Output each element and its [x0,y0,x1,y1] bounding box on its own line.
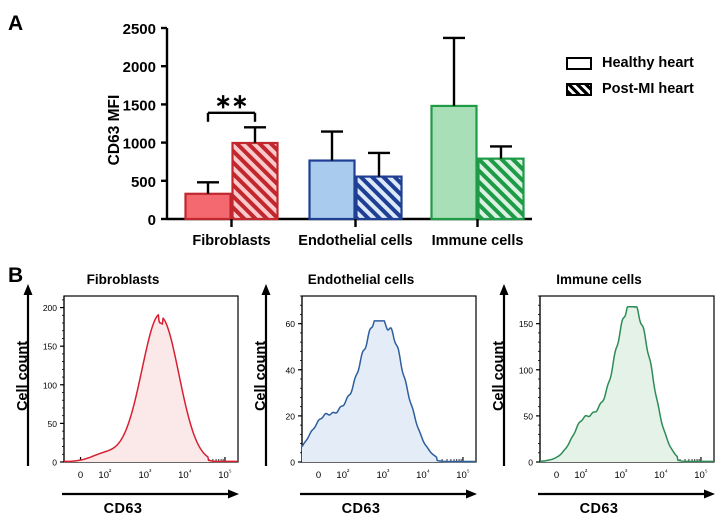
legend-label-healthy: Healthy heart [602,55,694,71]
histogram-endothelial: Endothelial cells Cell count 0204060010²… [240,258,482,528]
bar-chart: 05001000150020002500CD63 MFIFibroblastsE… [0,0,570,255]
svg-text:1500: 1500 [123,97,156,114]
svg-text:10⁵: 10⁵ [456,469,470,481]
open-rect-swatch-icon [566,57,592,70]
svg-text:10⁴: 10⁴ [416,469,430,481]
svg-text:Fibroblasts: Fibroblasts [192,233,270,249]
svg-text:0: 0 [52,458,57,468]
svg-text:1000: 1000 [123,136,156,153]
svg-text:20: 20 [286,411,296,421]
svg-text:10⁵: 10⁵ [694,469,708,481]
svg-text:0: 0 [528,458,533,468]
svg-text:Immune cells: Immune cells [432,233,524,249]
chart-legend: Healthy heart Post-MI heart [566,50,721,102]
svg-text:60: 60 [286,319,296,329]
histogram-plot-immune: 050100150010²10³10⁴10⁵ [478,284,720,499]
hatched-rect-swatch-icon [566,83,592,96]
svg-text:150: 150 [43,342,57,352]
svg-text:2500: 2500 [123,21,156,38]
histogram-xlabel-endothelial: CD63 [240,501,482,517]
svg-text:10³: 10³ [614,469,628,481]
histogram-immune: Immune cells Cell count 050100150010²10³… [478,258,720,528]
svg-text:10⁵: 10⁵ [218,469,232,481]
histogram-plot-endothelial: 0204060010²10³10⁴10⁵ [240,284,482,499]
svg-text:2000: 2000 [123,59,156,76]
histogram-fibroblasts: Fibroblasts Cell count 050100150200010²1… [2,258,244,528]
svg-text:10³: 10³ [376,469,390,481]
svg-text:CD63 MFI: CD63 MFI [106,95,123,166]
svg-text:Endothelial cells: Endothelial cells [298,233,412,249]
svg-text:∗∗: ∗∗ [215,91,249,113]
svg-text:0: 0 [554,470,559,481]
panel-a: A 05001000150020002500CD63 MFIFibroblast… [0,0,725,255]
legend-item-healthy: Healthy heart [566,50,721,76]
svg-text:0: 0 [316,470,321,481]
svg-text:50: 50 [48,419,58,429]
legend-label-postmi: Post-MI heart [602,81,694,97]
histogram-plot-fibroblasts: 050100150200010²10³10⁴10⁵ [2,284,244,499]
svg-text:10⁴: 10⁴ [178,469,192,481]
svg-text:100: 100 [43,380,57,390]
svg-text:50: 50 [524,411,534,421]
histogram-xlabel-immune: CD63 [478,501,720,517]
legend-item-postmi: Post-MI heart [566,76,721,102]
svg-text:500: 500 [131,174,156,191]
svg-text:150: 150 [519,319,533,329]
svg-text:10⁴: 10⁴ [654,469,668,481]
svg-text:10³: 10³ [138,469,152,481]
svg-text:10²: 10² [336,469,350,481]
svg-text:40: 40 [286,365,296,375]
svg-text:0: 0 [290,458,295,468]
svg-text:0: 0 [78,470,83,481]
panel-b: B Fibroblasts Cell count 050100150200010… [0,258,725,528]
histogram-xlabel-fibroblasts: CD63 [2,501,244,517]
svg-text:10²: 10² [98,469,112,481]
svg-text:200: 200 [43,303,57,313]
svg-text:100: 100 [519,365,533,375]
svg-text:0: 0 [148,212,156,229]
svg-text:10²: 10² [574,469,588,481]
